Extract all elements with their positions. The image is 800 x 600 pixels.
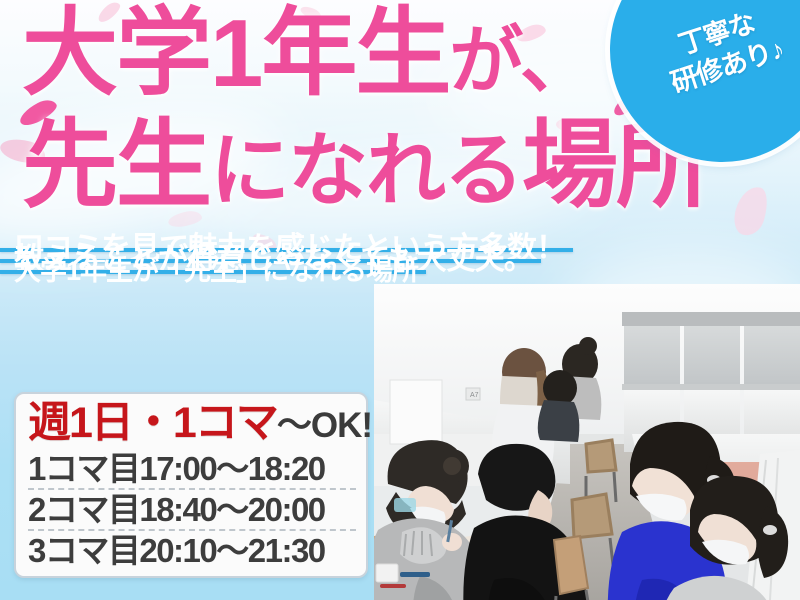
- headline-line-2-ninareru: になれる: [210, 126, 522, 215]
- headline-line-2-sensei: 先生: [22, 112, 210, 219]
- headline-line-1-main: 大学1年生: [22, 0, 449, 107]
- schedule-row: 3コマ目20:10〜21:30: [28, 529, 356, 570]
- svg-text:A7: A7: [470, 392, 479, 399]
- highlight-strip-3: 大学1年生が「先生」になれる場所: [0, 270, 426, 274]
- headline-line-2: 先生になれる場所: [22, 118, 722, 214]
- headline-line-1-particle: が、: [449, 19, 592, 102]
- schedule-card-heading: 週1日・1コマ〜OK!: [28, 402, 356, 445]
- cherry-petal-icon: [730, 183, 773, 239]
- poster-root: A7: [0, 0, 800, 600]
- schedule-card: 週1日・1コマ〜OK! 1コマ目17:00〜18:20 2コマ目18:40〜20…: [14, 392, 368, 578]
- classroom-photo-illustration: A7: [374, 284, 800, 600]
- classroom-photo: A7: [374, 284, 800, 600]
- schedule-heading-suffix: 〜OK!: [277, 406, 372, 445]
- schedule-row: 2コマ目18:40〜20:00: [28, 488, 356, 529]
- highlight-strips: 口コミを見て魅力を感じたという方多数！ 教えることが得意じゃなくても大丈夫。 大…: [0, 248, 573, 276]
- training-badge-text: 丁寧な 研修あり♪: [656, 0, 788, 100]
- schedule-row: 1コマ目17:00〜18:20: [28, 449, 356, 488]
- schedule-heading-emphasis: 週1日・1コマ: [28, 399, 277, 447]
